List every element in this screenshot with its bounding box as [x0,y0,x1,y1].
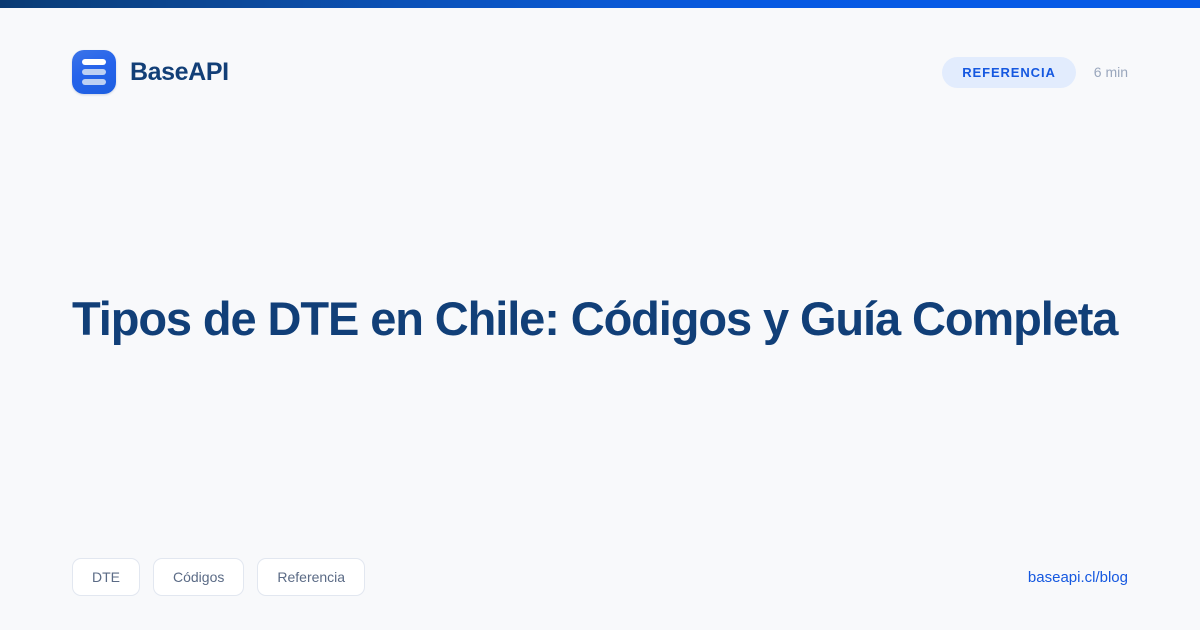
brand-name: BaseAPI [130,58,229,87]
top-accent-bar [0,0,1200,8]
stacked-bars-icon [72,50,116,94]
card-header: BaseAPI REFERENCIA 6 min [72,48,1128,96]
hero-section: Tipos de DTE en Chile: Códigos y Guía Co… [0,8,1200,630]
page-title: Tipos de DTE en Chile: Códigos y Guía Co… [72,292,1117,347]
header-meta: REFERENCIA 6 min [942,57,1128,88]
brand-lockup[interactable]: BaseAPI [72,50,229,94]
tag-referencia[interactable]: Referencia [257,558,365,596]
tag-dte[interactable]: DTE [72,558,140,596]
site-url-link[interactable]: baseapi.cl/blog [1028,569,1128,586]
tag-list: DTE Códigos Referencia [72,558,365,596]
read-time-label: 6 min [1094,64,1128,80]
logo-bar-top [82,59,106,65]
logo-bar-middle [82,69,106,75]
tag-codigos[interactable]: Códigos [153,558,244,596]
logo-bar-bottom [82,79,106,85]
card-footer: DTE Códigos Referencia baseapi.cl/blog [72,558,1128,596]
category-badge: REFERENCIA [942,57,1076,88]
og-card-canvas: BaseAPI REFERENCIA 6 min Tipos de DTE en… [0,8,1200,630]
